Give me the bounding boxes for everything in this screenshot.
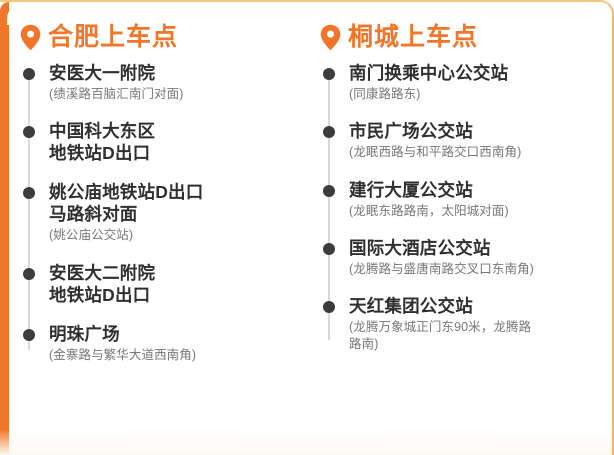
stop-name: 安医大一附院 [49,62,296,84]
stop-note: (绩溪路百脑汇南门对面) [49,86,296,103]
list-item[interactable]: 南门换乘中心公交站 (同康路路东) [320,62,602,103]
timeline-dot-icon [323,185,335,197]
timeline-dot-icon [23,329,35,341]
stop-note: (龙腾路与盛唐南路交叉口东南角) [349,261,602,278]
stop-list-tongcheng: 南门换乘中心公交站 (同康路路东) 市民广场公交站 (龙眠西路与和平路交口西南角… [320,62,602,354]
stop-name: 市民广场公交站 [349,120,602,142]
stop-note: (姚公庙公交站) [49,227,296,244]
stop-note: (龙腾万象城正门东90米，龙腾路路南) [349,319,602,354]
pickup-points-card: 合肥上车点 安医大一附院 (绩溪路百脑汇南门对面) 中国科大东区地铁站D出口 姚… [0,0,614,455]
pickup-columns: 合肥上车点 安医大一附院 (绩溪路百脑汇南门对面) 中国科大东区地铁站D出口 姚… [0,2,612,455]
stop-note: (同康路路东) [349,86,602,103]
column-title-hefei: 合肥上车点 [48,25,178,50]
stop-name: 姚公庙地铁站D出口马路斜对面 [49,181,296,225]
timeline-dot-icon [323,126,335,138]
column-title-tongcheng: 桐城上车点 [348,25,478,50]
stop-list-hefei: 安医大一附院 (绩溪路百脑汇南门对面) 中国科大东区地铁站D出口 姚公庙地铁站D… [20,62,296,364]
list-item[interactable]: 明珠广场 (金寨路与繁华大道西南角) [20,323,296,364]
list-item[interactable]: 国际大酒店公交站 (龙腾路与盛唐南路交叉口东南角) [320,237,602,278]
timeline-dot-icon [323,243,335,255]
list-item[interactable]: 建行大厦公交站 (龙眠东路路南，太阳城对面) [320,179,602,220]
stop-note: (龙眠东路路南，太阳城对面) [349,203,602,220]
timeline-dot-icon [23,68,35,80]
list-item[interactable]: 安医大一附院 (绩溪路百脑汇南门对面) [20,62,296,103]
timeline-dot-icon [23,268,35,280]
list-item[interactable]: 中国科大东区地铁站D出口 [20,120,296,164]
list-item[interactable]: 安医大二附院地铁站D出口 [20,262,296,306]
list-item[interactable]: 姚公庙地铁站D出口马路斜对面 (姚公庙公交站) [20,181,296,244]
stop-name: 天红集团公交站 [349,295,602,317]
timeline-dot-icon [23,187,35,199]
pickup-column-hefei: 合肥上车点 安医大一附院 (绩溪路百脑汇南门对面) 中国科大东区地铁站D出口 姚… [0,2,306,455]
location-pin-icon [320,24,341,51]
stop-name: 中国科大东区地铁站D出口 [49,120,296,164]
stop-name: 南门换乘中心公交站 [349,62,602,84]
stop-name: 国际大酒店公交站 [349,237,602,259]
stop-name: 建行大厦公交站 [349,179,602,201]
stop-note: (龙眠西路与和平路交口西南角) [349,144,602,161]
timeline-dot-icon [323,301,335,313]
location-pin-icon [20,24,41,51]
list-item[interactable]: 市民广场公交站 (龙眠西路与和平路交口西南角) [320,120,602,161]
column-header-hefei: 合肥上车点 [20,20,296,54]
pickup-column-tongcheng: 桐城上车点 南门换乘中心公交站 (同康路路东) 市民广场公交站 (龙眠西路与和平… [306,2,612,455]
stop-name: 安医大二附院地铁站D出口 [49,262,296,306]
column-header-tongcheng: 桐城上车点 [320,20,602,54]
stop-note: (金寨路与繁华大道西南角) [49,347,296,364]
stop-name: 明珠广场 [49,323,296,345]
list-item[interactable]: 天红集团公交站 (龙腾万象城正门东90米，龙腾路路南) [320,295,602,354]
timeline-dot-icon [23,126,35,138]
timeline-dot-icon [323,68,335,80]
